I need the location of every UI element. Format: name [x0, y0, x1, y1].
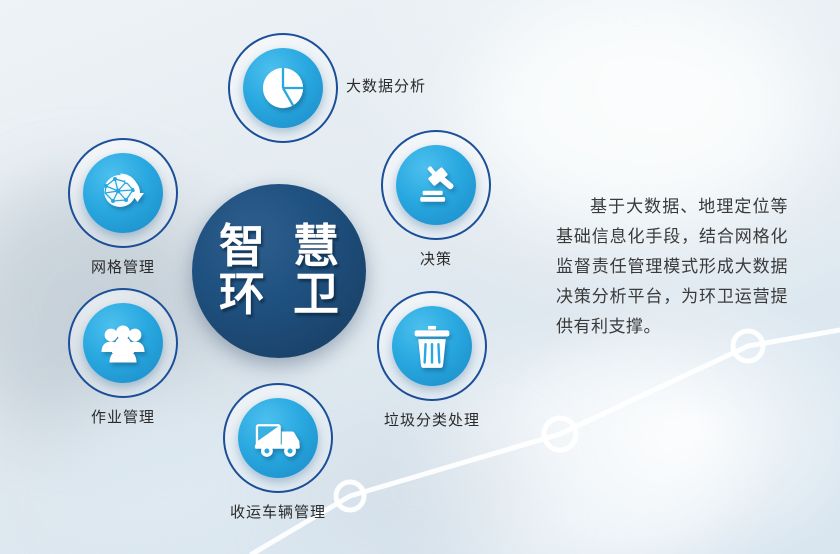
hub-title-line1: 智 慧	[213, 223, 345, 271]
node-vehicle[interactable]: 收运车辆管理	[223, 383, 333, 493]
node-disc	[238, 398, 318, 478]
node-ops[interactable]: 作业管理	[68, 288, 178, 398]
pie-chart-icon	[260, 65, 306, 111]
node-label-vehicle: 收运车辆管理	[183, 501, 373, 522]
truck-icon	[253, 416, 303, 460]
node-label-waste: 垃圾分类处理	[337, 409, 527, 430]
node-disc	[83, 153, 163, 233]
people-group-icon	[99, 319, 147, 367]
gavel-icon	[413, 162, 459, 208]
infographic-canvas: 智 慧 环 卫 大数据分析	[0, 0, 840, 554]
node-decision[interactable]: 决策	[381, 130, 491, 240]
node-label-bigdata: 大数据分析	[346, 75, 426, 96]
node-ring	[377, 291, 487, 401]
node-label-ops: 作业管理	[28, 406, 218, 427]
node-waste[interactable]: 垃圾分类处理	[377, 291, 487, 401]
node-disc	[83, 303, 163, 383]
network-globe-icon	[99, 169, 147, 217]
background-blob	[300, 420, 530, 554]
node-ring	[223, 383, 333, 493]
node-ring	[68, 288, 178, 398]
background-blob	[470, 0, 800, 220]
trash-bin-icon	[410, 323, 454, 369]
node-label-decision: 决策	[341, 248, 531, 269]
node-disc	[243, 48, 323, 128]
node-bigdata[interactable]: 大数据分析	[228, 33, 338, 143]
node-label-grid: 网格管理	[28, 256, 218, 277]
hub-title-line2: 环 卫	[213, 271, 345, 319]
connector-node-icon	[544, 418, 576, 450]
description-paragraph: 基于大数据、地理定位等基础信息化手段，结合网格化监督责任管理模式形成大数据决策分…	[556, 192, 788, 342]
node-disc	[396, 145, 476, 225]
node-disc	[392, 306, 472, 386]
node-grid[interactable]: 网格管理	[68, 138, 178, 248]
node-ring	[68, 138, 178, 248]
central-hub: 智 慧 环 卫	[192, 184, 366, 358]
node-ring	[228, 33, 338, 143]
node-ring	[381, 130, 491, 240]
